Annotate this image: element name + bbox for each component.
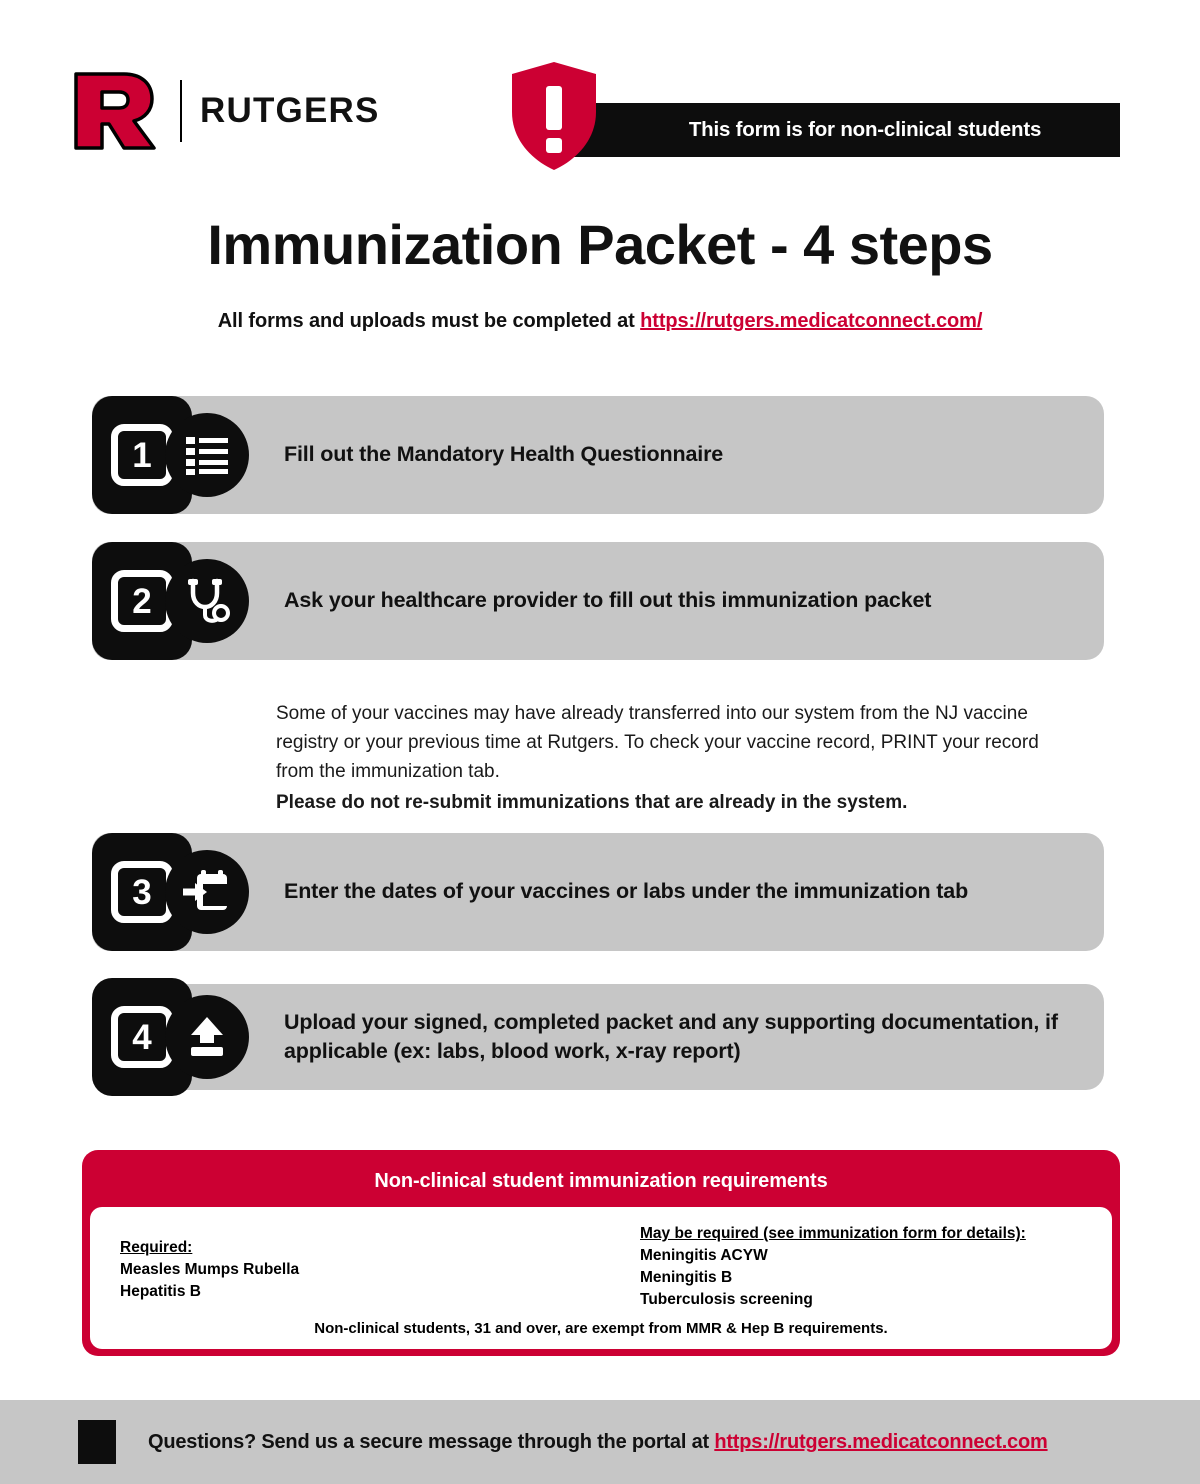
page-header: RUTGERS This form is for non-clinical st… [0,0,1200,190]
may-be-required-item: Meningitis B [640,1267,1082,1289]
data-entry-icon [165,850,249,934]
upload-icon [165,995,249,1079]
required-column: Required: Measles Mumps Rubella Hepatiti… [120,1223,640,1311]
rutgers-logo: RUTGERS [72,72,380,150]
step-text-3: Enter the dates of your vaccines or labs… [284,877,992,906]
logo-divider [180,80,182,142]
footer-square-icon [78,1420,116,1464]
non-clinical-notice: This form is for non-clinical students [500,60,1120,180]
step-badge-1: 1 [92,396,210,514]
subtitle-line: All forms and uploads must be completed … [0,310,1200,333]
requirements-footnote: Non-clinical students, 31 and over, are … [90,1320,1112,1337]
page-footer: Questions? Send us a secure message thro… [0,1400,1200,1484]
step-row-4: 4 Upload your signed, completed packet a… [92,984,1104,1090]
checklist-icon [165,413,249,497]
requirements-title: Non-clinical student immunization requir… [90,1158,1112,1207]
subtitle-prefix: All forms and uploads must be completed … [218,310,640,332]
step-text-4: Upload your signed, completed packet and… [284,1008,1104,1066]
step-row-3: 3 Enter the dates of your vaccines or la… [92,833,1104,951]
may-be-required-heading: May be required (see immunization form f… [640,1223,1082,1245]
page-title: Immunization Packet - 4 steps [0,212,1200,277]
step-badge-2: 2 [92,542,210,660]
step-row-2: 2 Ask your healthcare provider to fill o… [92,542,1104,660]
step-badge-4: 4 [92,978,210,1096]
transfer-note: Some of your vaccines may have already t… [276,700,1076,818]
may-be-required-column: May be required (see immunization form f… [640,1223,1082,1311]
requirements-panel: Required: Measles Mumps Rubella Hepatiti… [90,1207,1112,1349]
requirements-columns: Required: Measles Mumps Rubella Hepatiti… [120,1223,1082,1311]
step-text-2: Ask your healthcare provider to fill out… [284,586,955,615]
rutgers-r-icon [72,72,158,150]
stethoscope-icon [165,559,249,643]
notice-banner: This form is for non-clinical students [570,103,1120,157]
footer-prefix: Questions? Send us a secure message thro… [148,1431,714,1453]
requirements-box: Non-clinical student immunization requir… [82,1150,1120,1356]
footer-portal-link[interactable]: https://rutgers.medicatconnect.com [714,1431,1047,1453]
medicat-portal-link[interactable]: https://rutgers.medicatconnect.com/ [640,310,982,332]
required-item: Hepatitis B [120,1281,640,1303]
step-number-4: 4 [111,1006,173,1068]
step-row-1: 1 Fill out the Mandatory Health Question… [92,396,1104,514]
note-bold-line: Please do not re-submit immunizations th… [276,789,1076,818]
note-line-1: Some of your vaccines may have already t… [276,703,958,724]
required-heading: Required: [120,1223,640,1259]
step-number-2: 2 [111,570,173,632]
may-be-required-item: Tuberculosis screening [640,1289,1082,1311]
step-badge-3: 3 [92,833,210,951]
step-text-1: Fill out the Mandatory Health Questionna… [284,440,747,469]
step-number-1: 1 [111,424,173,486]
alert-shield-icon [508,60,600,172]
required-item: Measles Mumps Rubella [120,1259,640,1281]
step-number-3: 3 [111,861,173,923]
may-be-required-item: Meningitis ACYW [640,1245,1082,1267]
notice-text: This form is for non-clinical students [689,118,1041,142]
footer-text: Questions? Send us a secure message thro… [148,1431,1048,1454]
rutgers-wordmark: RUTGERS [200,91,380,131]
